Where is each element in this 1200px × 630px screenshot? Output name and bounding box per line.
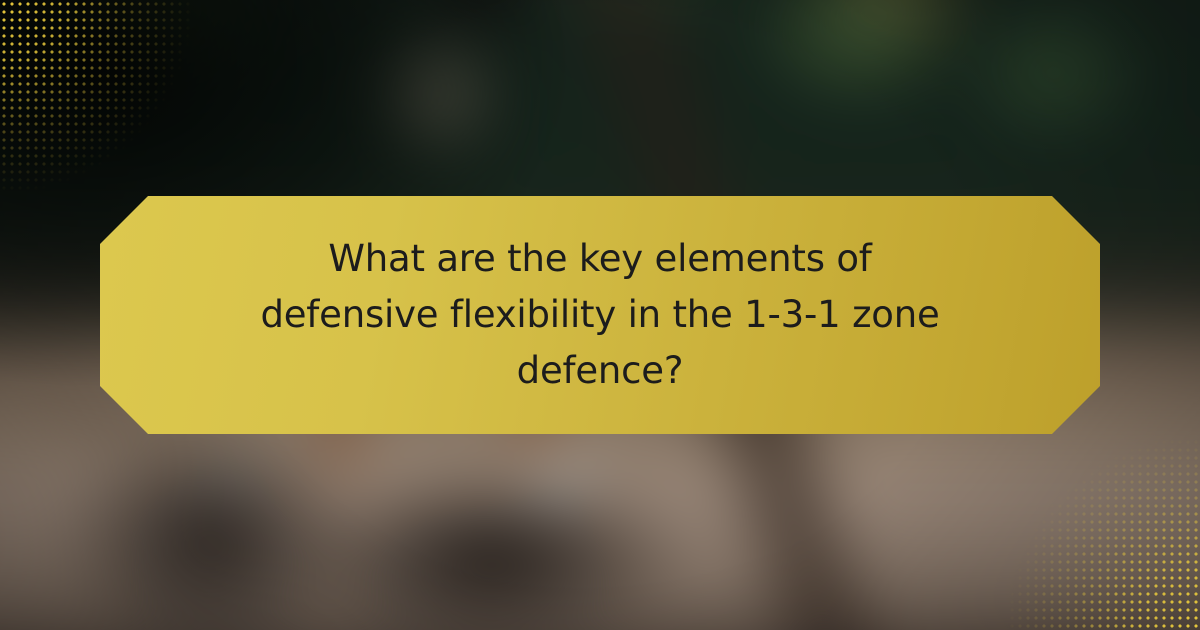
- question-panel: What are the key elements of defensive f…: [100, 196, 1100, 434]
- question-card-canvas: What are the key elements of defensive f…: [0, 0, 1200, 630]
- question-text: What are the key elements of defensive f…: [250, 231, 950, 400]
